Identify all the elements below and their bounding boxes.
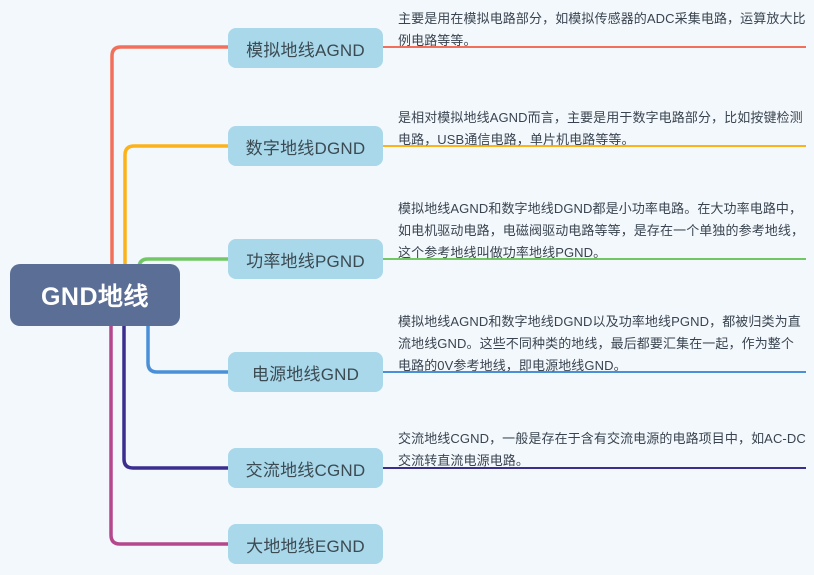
branch-node-label: 功率地线PGND bbox=[246, 247, 365, 272]
description-block-agnd: 主要是用在模拟电路部分，如模拟传感器的ADC采集电路，运算放大比例电路等等。 bbox=[398, 8, 806, 50]
description-text: 模拟地线AGND和数字地线DGND都是小功率电路。在大功率电路中，如电机驱动电路… bbox=[398, 198, 806, 264]
connector-line-5 bbox=[111, 290, 228, 544]
description-block-gnd: 模拟地线AGND和数字地线DGND以及功率地线PGND，都被归类为直流地线GND… bbox=[398, 311, 806, 374]
branch-node-agnd[interactable]: 模拟地线AGND bbox=[228, 28, 383, 68]
root-node-label: GND地线 bbox=[41, 277, 149, 313]
description-block-cgnd: 交流地线CGND，一般是存在于含有交流电源的电路项目中，如AC-DC交流转直流电… bbox=[398, 428, 806, 470]
branch-node-label: 交流地线CGND bbox=[246, 456, 366, 481]
connector-line-0 bbox=[112, 47, 228, 300]
branch-node-label: 模拟地线AGND bbox=[246, 36, 365, 61]
branch-node-label: 大地地线EGND bbox=[246, 532, 365, 557]
branch-node-egnd[interactable]: 大地地线EGND bbox=[228, 524, 383, 564]
description-text: 模拟地线AGND和数字地线DGND以及功率地线PGND，都被归类为直流地线GND… bbox=[398, 311, 806, 377]
description-text: 是相对模拟地线AGND而言，主要是用于数字电路部分，比如按键检测电路，USB通信… bbox=[398, 107, 806, 151]
branch-node-label: 数字地线DGND bbox=[246, 134, 366, 159]
branch-node-cgnd[interactable]: 交流地线CGND bbox=[228, 448, 383, 488]
branch-node-pgnd[interactable]: 功率地线PGND bbox=[228, 239, 383, 279]
branch-node-dgnd[interactable]: 数字地线DGND bbox=[228, 126, 383, 166]
root-node[interactable]: GND地线 bbox=[10, 264, 180, 326]
description-block-dgnd: 是相对模拟地线AGND而言，主要是用于数字电路部分，比如按键检测电路，USB通信… bbox=[398, 107, 806, 149]
branch-node-label: 电源地线GND bbox=[252, 360, 359, 385]
description-text: 主要是用在模拟电路部分，如模拟传感器的ADC采集电路，运算放大比例电路等等。 bbox=[398, 8, 806, 52]
description-text: 交流地线CGND，一般是存在于含有交流电源的电路项目中，如AC-DC交流转直流电… bbox=[398, 428, 806, 472]
branch-node-gnd[interactable]: 电源地线GND bbox=[228, 352, 383, 392]
mindmap-canvas: GND地线 模拟地线AGND 主要是用在模拟电路部分，如模拟传感器的ADC采集电… bbox=[0, 0, 814, 575]
description-block-pgnd: 模拟地线AGND和数字地线DGND都是小功率电路。在大功率电路中，如电机驱动电路… bbox=[398, 198, 806, 261]
